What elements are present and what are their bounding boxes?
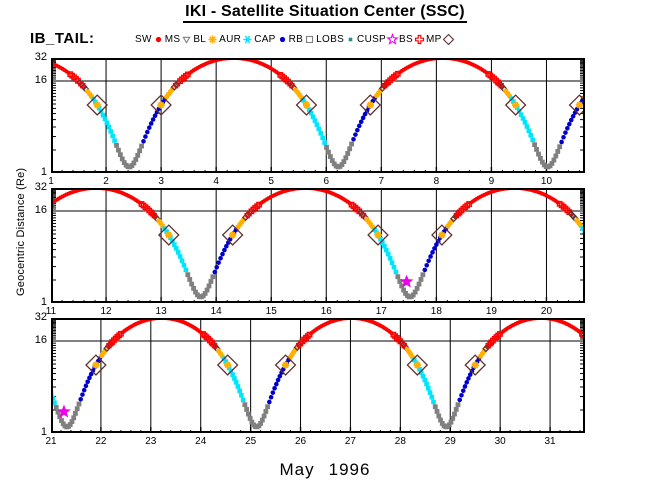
x-tick-label: 17 — [369, 306, 393, 317]
legend-item-bs: BS — [399, 33, 426, 46]
x-tick-label: 13 — [149, 306, 173, 317]
x-axis-label: May1996 — [0, 460, 650, 480]
legend-item-rb: RB — [289, 33, 317, 46]
legend-item-label: BL — [193, 34, 206, 45]
x-tick-label: 8 — [424, 176, 448, 187]
legend: IB_TAIL: SWMSBLAURCAPRBLOBSCUSPBSMP — [30, 30, 650, 52]
x-tick-label: 2 — [94, 176, 118, 187]
panel-frame — [51, 318, 585, 433]
open-square-icon — [303, 33, 316, 46]
x-tick-label: 16 — [314, 306, 338, 317]
legend-title: IB_TAIL: — [30, 30, 95, 47]
plot-page: IKI - Satellite Situation Center (SSC) I… — [0, 0, 650, 500]
panel-frame — [51, 188, 585, 303]
x-tick-label: 31 — [538, 436, 562, 447]
legend-item-label: CUSP — [357, 34, 386, 45]
x-tick-label: 21 — [39, 436, 63, 447]
legend-item-label: BS — [399, 34, 413, 45]
x-axis-year: 1996 — [329, 460, 371, 479]
x-tick-label: 20 — [534, 306, 558, 317]
y-tick-label: 32 — [7, 312, 47, 323]
plot-panel-2[interactable]: 3216111121314151617181920 — [51, 188, 585, 303]
legend-item-label: RB — [289, 34, 304, 45]
legend-item-mp: MP — [426, 33, 455, 46]
x-tick-label: 5 — [259, 176, 283, 187]
x-tick-label: 28 — [388, 436, 412, 447]
plot-panel-1[interactable]: 3216112345678910 — [51, 58, 585, 173]
legend-item-sw: SW — [135, 33, 165, 46]
legend-item-cap: CAP — [254, 33, 288, 46]
x-tick-label: 27 — [338, 436, 362, 447]
x-tick-label: 4 — [204, 176, 228, 187]
y-axis-label: Geocentric Distance (Re) — [15, 176, 27, 296]
y-tick-label: 32 — [7, 182, 47, 193]
x-tick-label: 7 — [369, 176, 393, 187]
x-tick-label: 30 — [488, 436, 512, 447]
legend-item-lobs: LOBS — [316, 33, 357, 46]
x-tick-label: 29 — [438, 436, 462, 447]
open-star-icon — [386, 33, 399, 46]
y-tick-label: 16 — [7, 335, 47, 346]
x-tick-label: 3 — [149, 176, 173, 187]
filled-circle-icon — [276, 33, 289, 46]
eight-point-star-icon — [206, 33, 219, 46]
legend-item-cusp: CUSP — [357, 33, 399, 46]
x-tick-label: 12 — [94, 306, 118, 317]
legend-item-label: SW — [135, 34, 152, 45]
x-tick-label: 9 — [479, 176, 503, 187]
page-title-text: IKI - Satellite Situation Center (SSC) — [183, 3, 467, 23]
x-tick-label: 22 — [89, 436, 113, 447]
y-tick-label: 16 — [7, 75, 47, 86]
legend-items: SWMSBLAURCAPRBLOBSCUSPBSMP — [135, 33, 455, 46]
open-diamond-icon — [442, 33, 455, 46]
asterisk-icon — [241, 33, 254, 46]
x-axis-month: May — [280, 460, 315, 479]
open-triangle-icon — [180, 33, 193, 46]
x-tick-label: 23 — [139, 436, 163, 447]
legend-item-label: CAP — [254, 34, 275, 45]
x-tick-label: 24 — [189, 436, 213, 447]
x-tick-label: 15 — [259, 306, 283, 317]
plot-panel-3[interactable]: 321612122232425262728293031 — [51, 318, 585, 433]
legend-item-label: AUR — [219, 34, 241, 45]
legend-item-aur: AUR — [219, 33, 254, 46]
page-title: IKI - Satellite Situation Center (SSC) — [0, 3, 650, 21]
x-tick-label: 10 — [534, 176, 558, 187]
legend-item-label: LOBS — [316, 34, 344, 45]
panel-frame — [51, 58, 585, 173]
legend-item-ms: MS — [165, 33, 194, 46]
y-tick-label: 16 — [7, 205, 47, 216]
x-tick-label: 25 — [239, 436, 263, 447]
x-tick-label: 6 — [314, 176, 338, 187]
x-tick-label: 26 — [289, 436, 313, 447]
legend-item-bl: BL — [193, 33, 219, 46]
x-tick-label: 18 — [424, 306, 448, 317]
filled-circle-icon — [152, 33, 165, 46]
cross-icon — [413, 33, 426, 46]
legend-item-label: MP — [426, 34, 442, 45]
y-tick-label: 32 — [7, 52, 47, 63]
x-tick-label: 19 — [479, 306, 503, 317]
legend-item-label: MS — [165, 34, 181, 45]
x-tick-label: 14 — [204, 306, 228, 317]
small-filled-square-icon — [344, 33, 357, 46]
